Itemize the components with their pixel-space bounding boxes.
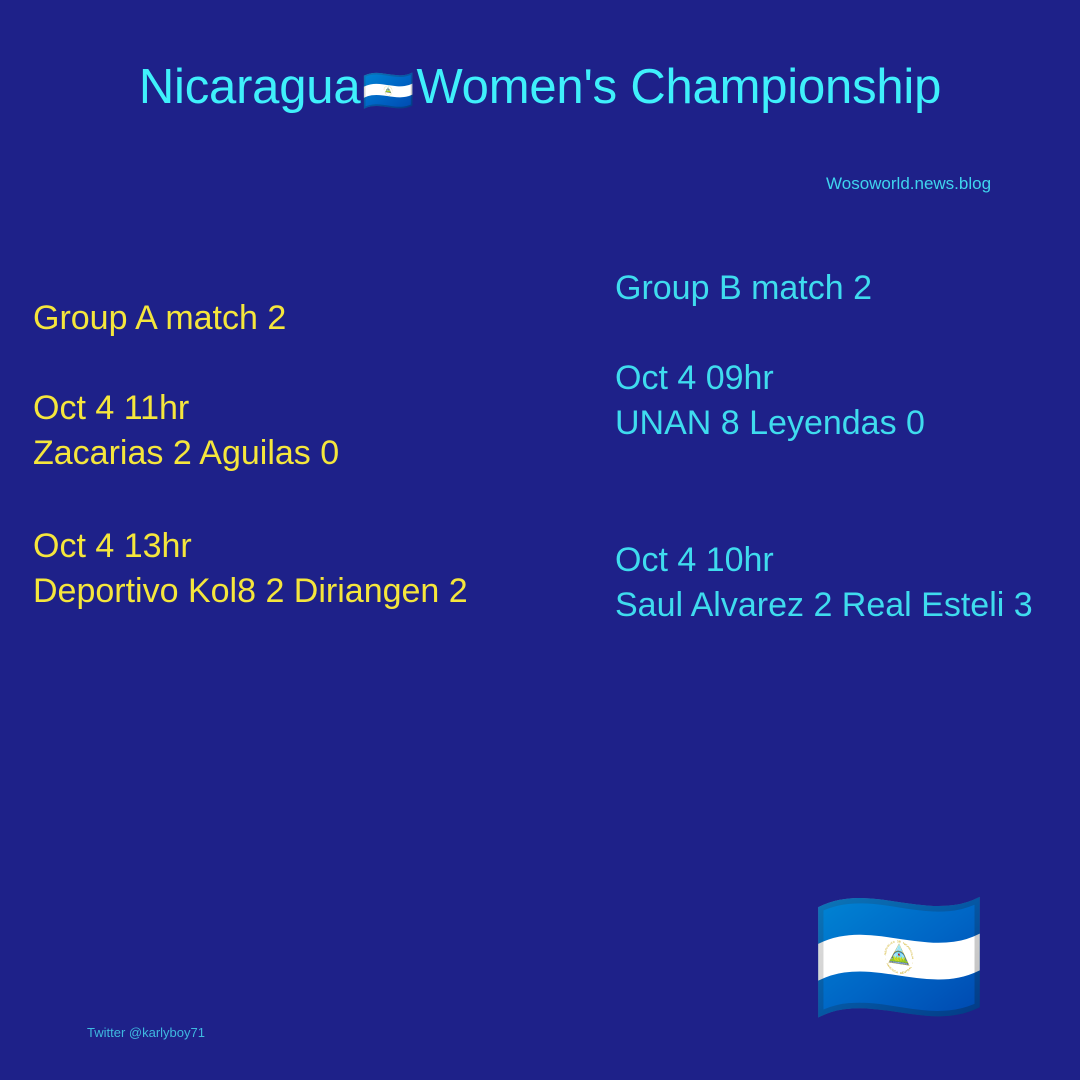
- page-title-prefix: Nicaragua: [139, 60, 361, 114]
- twitter-credit-label: Twitter @karlyboy71: [87, 1024, 205, 1042]
- match-time: Oct 4 13hr: [33, 524, 468, 569]
- group-b-column: Group B match 2 Oct 4 09hr UNAN 8 Leyend…: [615, 266, 1033, 628]
- match-result: UNAN 8 Leyendas 0: [615, 401, 1033, 446]
- page-title: Nicaragua🇳🇮Women's Championship: [0, 58, 1080, 120]
- site-credit-label: Wosoworld.news.blog: [826, 174, 991, 194]
- match-result: Deportivo Kol8 2 Diriangen 2: [33, 569, 468, 614]
- match-time: Oct 4 11hr: [33, 386, 468, 431]
- group-b-match-1: Oct 4 09hr UNAN 8 Leyendas 0: [615, 356, 1033, 446]
- group-a-column: Group A match 2 Oct 4 11hr Zacarias 2 Ag…: [33, 296, 468, 614]
- group-a-heading: Group A match 2: [33, 296, 468, 340]
- nicaragua-flag-decoration-icon: 🇳🇮: [808, 888, 990, 1026]
- match-result: Zacarias 2 Aguilas 0: [33, 431, 468, 476]
- match-result: Saul Alvarez 2 Real Esteli 3: [615, 583, 1033, 628]
- group-b-match-2: Oct 4 10hr Saul Alvarez 2 Real Esteli 3: [615, 538, 1033, 628]
- group-a-match-2: Oct 4 13hr Deportivo Kol8 2 Diriangen 2: [33, 524, 468, 614]
- match-time: Oct 4 09hr: [615, 356, 1033, 401]
- page-title-suffix: Women's Championship: [417, 60, 942, 114]
- nicaragua-flag-icon: 🇳🇮: [362, 67, 414, 114]
- group-b-heading: Group B match 2: [615, 266, 1033, 310]
- group-a-match-1: Oct 4 11hr Zacarias 2 Aguilas 0: [33, 386, 468, 476]
- match-time: Oct 4 10hr: [615, 538, 1033, 583]
- graphic-canvas: Nicaragua🇳🇮Women's Championship Wosoworl…: [0, 0, 1080, 1080]
